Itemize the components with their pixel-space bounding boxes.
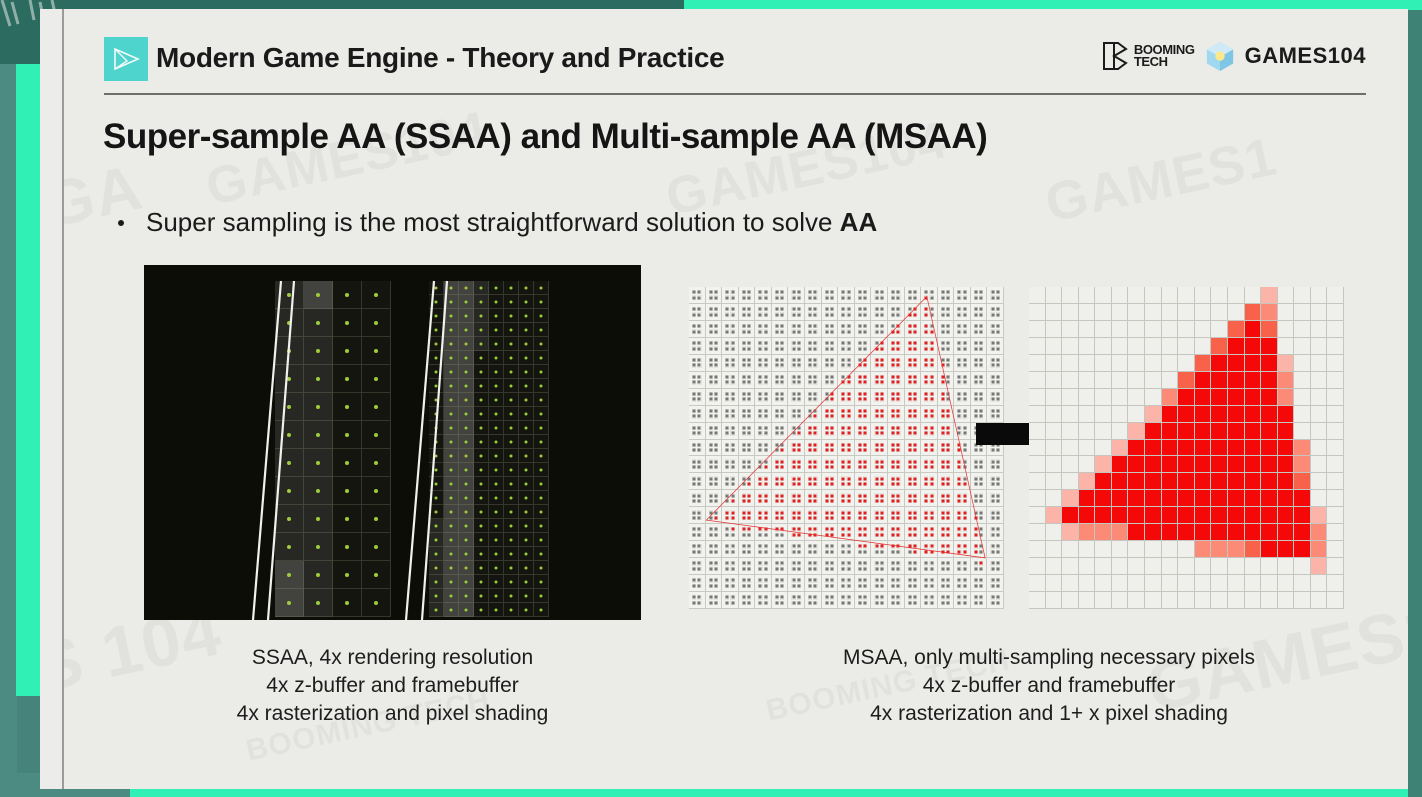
msaa-subsample	[990, 510, 994, 514]
msaa-subsample	[747, 324, 751, 328]
msaa-subsample	[990, 465, 994, 469]
msaa-subsample	[963, 358, 967, 362]
msaa-subsample	[747, 533, 751, 537]
ssaa-sample-dot	[435, 426, 438, 429]
resolved-pixel	[1228, 372, 1245, 389]
msaa-subsample	[974, 346, 978, 350]
ssaa-sample-dot	[465, 314, 468, 317]
ssaa-pixel-cell	[444, 407, 459, 421]
ssaa-sample-dot	[374, 489, 378, 493]
ssaa-sample-dot	[510, 440, 513, 443]
resolved-pixel	[1128, 541, 1145, 558]
msaa-subsample	[896, 329, 900, 333]
msaa-subsample	[874, 380, 878, 384]
ssaa-sample-dot	[465, 440, 468, 443]
ssaa-pixel-cell	[534, 449, 549, 463]
msaa-subsample	[830, 380, 834, 384]
msaa-subsample	[825, 510, 829, 514]
msaa-subsample	[692, 567, 696, 571]
msaa-pixel	[689, 558, 706, 575]
msaa-pixel	[954, 321, 971, 338]
ssaa-pixel-cell	[444, 505, 459, 519]
msaa-subsample	[896, 499, 900, 503]
ssaa-pixel-cell	[534, 281, 549, 295]
msaa-subsample	[697, 414, 701, 418]
msaa-subsample	[846, 499, 850, 503]
resolved-pixel	[1029, 541, 1046, 558]
msaa-pixel	[689, 575, 706, 592]
msaa-pixel	[838, 592, 855, 609]
ssaa-sample-dot	[510, 370, 513, 373]
resolved-pixel	[1079, 541, 1096, 558]
msaa-subsample	[846, 601, 850, 605]
ssaa-sample-dot	[465, 552, 468, 555]
ssaa-pixel-cell	[444, 589, 459, 603]
resolved-pixel	[1327, 575, 1344, 592]
msaa-subsample	[830, 290, 834, 294]
msaa-subsample	[874, 493, 878, 497]
msaa-subsample	[730, 544, 734, 548]
msaa-subsample	[979, 363, 983, 367]
msaa-subsample	[908, 493, 912, 497]
msaa-subsample	[880, 561, 884, 565]
ssaa-pixel-cell	[362, 365, 391, 393]
msaa-pixel	[987, 490, 1004, 507]
ssaa-pixel-cell	[362, 533, 391, 561]
msaa-subsample	[747, 459, 751, 463]
msaa-pixel	[706, 575, 723, 592]
resolved-pixel	[1095, 456, 1112, 473]
msaa-subsample	[692, 448, 696, 452]
ssaa-sample-dot	[525, 328, 528, 331]
msaa-subsample	[924, 341, 928, 345]
msaa-subsample	[697, 397, 701, 401]
resolved-pixel	[1195, 575, 1212, 592]
ssaa-sample-dot	[287, 601, 291, 605]
msaa-subsample	[747, 409, 751, 413]
ssaa-pixel-cell	[459, 309, 474, 323]
msaa-pixel	[805, 524, 822, 541]
msaa-subsample	[929, 431, 933, 435]
msaa-subsample	[846, 392, 850, 396]
msaa-pixel	[772, 389, 789, 406]
msaa-subsample	[830, 341, 834, 345]
msaa-subsample	[858, 567, 862, 571]
msaa-subsample	[941, 459, 945, 463]
ssaa-sample-dot	[540, 426, 543, 429]
msaa-subsample	[990, 329, 994, 333]
ssaa-sample-dot	[495, 594, 498, 597]
msaa-subsample	[941, 578, 945, 582]
msaa-subsample	[880, 324, 884, 328]
msaa-subsample	[780, 533, 784, 537]
msaa-pixel	[722, 372, 739, 389]
msaa-pixel	[938, 524, 955, 541]
ssaa-pixel-cell	[429, 463, 444, 477]
msaa-subsample	[880, 426, 884, 430]
ssaa-sample-dot	[435, 496, 438, 499]
msaa-subsample	[908, 443, 912, 447]
msaa-subsample	[775, 550, 779, 554]
msaa-subsample	[963, 482, 967, 486]
msaa-subsample	[764, 380, 768, 384]
msaa-subsample	[990, 375, 994, 379]
resolved-pixel	[1145, 507, 1162, 524]
msaa-pixel	[954, 558, 971, 575]
resolved-pixel	[1079, 355, 1096, 372]
msaa-pixel	[888, 406, 905, 423]
msaa-subsample	[896, 601, 900, 605]
ssaa-sample-dot	[435, 510, 438, 513]
ssaa-pixel-cell	[474, 407, 489, 421]
msaa-subsample	[979, 375, 983, 379]
msaa-subsample	[742, 290, 746, 294]
msaa-pixel	[938, 389, 955, 406]
msaa-subsample	[725, 516, 729, 520]
msaa-subsample	[780, 375, 784, 379]
msaa-pixel	[739, 541, 756, 558]
msaa-subsample	[858, 550, 862, 554]
msaa-subsample	[742, 443, 746, 447]
ssaa-pixel-cell	[444, 519, 459, 533]
msaa-pixel	[822, 304, 839, 321]
resolved-pixel	[1245, 541, 1262, 558]
msaa-subsample	[858, 397, 862, 401]
msaa-subsample	[758, 493, 762, 497]
ssaa-pixel-cell	[429, 351, 444, 365]
msaa-subsample	[846, 578, 850, 582]
ssaa-sample-dot	[435, 608, 438, 611]
ssaa-pixel-cell	[474, 491, 489, 505]
resolved-pixel	[1079, 592, 1096, 609]
msaa-subsample	[764, 459, 768, 463]
msaa-subsample	[730, 443, 734, 447]
msaa-subsample	[742, 426, 746, 430]
resolved-pixel	[1211, 524, 1228, 541]
msaa-subsample	[825, 295, 829, 299]
ssaa-sample-dot	[316, 321, 320, 325]
resolved-pixel	[1261, 338, 1278, 355]
ssaa-sample-dot	[540, 524, 543, 527]
msaa-subsample	[929, 380, 933, 384]
msaa-pixel	[954, 456, 971, 473]
msaa-pixel	[689, 541, 706, 558]
msaa-subsample	[830, 329, 834, 333]
resolved-pixel	[1311, 355, 1328, 372]
ssaa-sample-dot	[465, 608, 468, 611]
ssaa-pixel-cell	[519, 533, 534, 547]
msaa-pixel	[689, 456, 706, 473]
msaa-subsample	[697, 533, 701, 537]
msaa-subsample	[924, 578, 928, 582]
msaa-subsample	[858, 414, 862, 418]
msaa-subsample	[714, 561, 718, 565]
resolved-pixel	[1278, 372, 1295, 389]
msaa-subsample	[825, 380, 829, 384]
msaa-subsample	[780, 324, 784, 328]
msaa-pixel	[739, 507, 756, 524]
msaa-subsample	[775, 324, 779, 328]
resolved-pixel	[1029, 338, 1046, 355]
msaa-subsample	[813, 409, 817, 413]
msaa-subsample	[747, 544, 751, 548]
msaa-subsample	[775, 516, 779, 520]
msaa-pixel	[838, 304, 855, 321]
msaa-subsample	[924, 448, 928, 452]
ssaa-sample-dot	[450, 384, 453, 387]
msaa-pixel	[954, 406, 971, 423]
msaa-subsample	[791, 499, 795, 503]
msaa-subsample	[908, 409, 912, 413]
msaa-subsample	[808, 443, 812, 447]
resolved-pixel	[1327, 406, 1344, 423]
ssaa-pixel-cell	[429, 491, 444, 505]
resolved-pixel	[1261, 440, 1278, 457]
msaa-subsample	[813, 533, 817, 537]
msaa-subsample	[946, 459, 950, 463]
msaa-pixel	[772, 372, 789, 389]
msaa-pixel	[722, 321, 739, 338]
ssaa-sample-dot	[495, 328, 498, 331]
msaa-subsample	[946, 448, 950, 452]
msaa-subsample	[913, 493, 917, 497]
msaa-pixel	[722, 592, 739, 609]
msaa-subsample	[764, 448, 768, 452]
msaa-subsample	[979, 527, 983, 531]
resolved-pixel	[1062, 490, 1079, 507]
msaa-subsample	[990, 544, 994, 548]
msaa-subsample	[747, 482, 751, 486]
resolved-pixel	[1079, 406, 1096, 423]
ssaa-pixel-cell	[534, 323, 549, 337]
msaa-subsample	[747, 290, 751, 294]
msaa-subsample	[758, 448, 762, 452]
msaa-subsample	[797, 561, 801, 565]
ssaa-sample-dot	[495, 524, 498, 527]
msaa-pixel	[722, 575, 739, 592]
resolved-pixel	[1211, 440, 1228, 457]
msaa-subsample	[780, 499, 784, 503]
resolved-pixel	[1178, 440, 1195, 457]
ssaa-sample-dot	[510, 538, 513, 541]
resolved-pixel	[1046, 558, 1063, 575]
msaa-subsample	[946, 595, 950, 599]
msaa-subsample	[725, 476, 729, 480]
ssaa-sample-dot	[345, 545, 349, 549]
ssaa-pixel-cell	[275, 393, 304, 421]
msaa-subsample	[692, 527, 696, 531]
msaa-pixel	[971, 592, 988, 609]
msaa-subsample	[697, 510, 701, 514]
msaa-subsample	[974, 290, 978, 294]
msaa-subsample	[841, 409, 845, 413]
ssaa-pixel-cell	[459, 519, 474, 533]
msaa-subsample	[697, 567, 701, 571]
msaa-subsample	[747, 584, 751, 588]
msaa-subsample	[924, 380, 928, 384]
msaa-subsample	[979, 499, 983, 503]
resolved-pixel	[1079, 558, 1096, 575]
msaa-subsample	[808, 448, 812, 452]
ssaa-sample-dot	[316, 601, 320, 605]
msaa-subsample	[996, 476, 1000, 480]
msaa-subsample	[764, 346, 768, 350]
msaa-subsample	[758, 358, 762, 362]
msaa-pixel	[921, 490, 938, 507]
msaa-subsample	[974, 312, 978, 316]
msaa-subsample	[709, 426, 713, 430]
ssaa-sample-dot	[450, 608, 453, 611]
msaa-pixel	[971, 541, 988, 558]
ssaa-pixel-cell	[489, 533, 504, 547]
msaa-pixel	[921, 287, 938, 304]
ssaa-sample-dot	[510, 384, 513, 387]
msaa-subsample	[758, 533, 762, 537]
resolved-pixel	[1278, 389, 1295, 406]
msaa-subsample	[941, 510, 945, 514]
resolved-pixel	[1062, 541, 1079, 558]
msaa-subsample	[979, 516, 983, 520]
resolved-pixel	[1327, 389, 1344, 406]
msaa-subsample	[813, 341, 817, 345]
msaa-subsample	[830, 567, 834, 571]
msaa-subsample	[913, 459, 917, 463]
ssaa-pixel-cell	[474, 589, 489, 603]
msaa-pixel	[722, 456, 739, 473]
msaa-subsample	[825, 375, 829, 379]
msaa-subsample	[697, 290, 701, 294]
msaa-pixel	[739, 304, 756, 321]
resolved-pixel	[1278, 304, 1295, 321]
msaa-subsample	[963, 329, 967, 333]
ssaa-sample-dot	[540, 412, 543, 415]
ssaa-sample-dot	[345, 293, 349, 297]
msaa-subsample	[996, 358, 1000, 362]
msaa-subsample	[775, 290, 779, 294]
msaa-subsample	[797, 329, 801, 333]
ssaa-pixel-cell	[504, 477, 519, 491]
msaa-subsample	[858, 465, 862, 469]
ssaa-sample-dot	[540, 300, 543, 303]
msaa-subsample	[863, 426, 867, 430]
msaa-subsample	[791, 409, 795, 413]
msaa-subsample	[797, 448, 801, 452]
resolved-pixel	[1178, 456, 1195, 473]
msaa-subsample	[874, 527, 878, 531]
msaa-subsample	[830, 459, 834, 463]
msaa-subsample	[697, 443, 701, 447]
resolved-pixel	[1311, 321, 1328, 338]
msaa-subsample	[941, 465, 945, 469]
resolved-pixel	[1112, 541, 1129, 558]
ssaa-sample-dot	[450, 482, 453, 485]
resolved-pixel	[1311, 423, 1328, 440]
msaa-subsample	[941, 443, 945, 447]
ssaa-pixel-cell	[429, 393, 444, 407]
ssaa-sample-dot	[480, 286, 483, 289]
msaa-subsample	[714, 443, 718, 447]
msaa-subsample	[758, 567, 762, 571]
msaa-subsample	[946, 476, 950, 480]
msaa-subsample	[692, 459, 696, 463]
msaa-subsample	[830, 527, 834, 531]
msaa-subsample	[891, 358, 895, 362]
msaa-pixel	[722, 473, 739, 490]
msaa-subsample	[858, 499, 862, 503]
msaa-subsample	[714, 346, 718, 350]
msaa-pixel	[788, 592, 805, 609]
resolved-pixel	[1311, 304, 1328, 321]
ssaa-pixel-cell	[459, 561, 474, 575]
msaa-pixel	[855, 440, 872, 457]
msaa-caption: MSAA, only multi-sampling necessary pixe…	[754, 644, 1344, 728]
msaa-subsample	[813, 601, 817, 605]
msaa-subsample	[946, 295, 950, 299]
msaa-subsample	[913, 409, 917, 413]
ssaa-pixel-cell	[504, 351, 519, 365]
msaa-pixel	[855, 524, 872, 541]
msaa-subsample	[913, 414, 917, 418]
msaa-subsample	[780, 414, 784, 418]
ssaa-pixel-cell	[444, 463, 459, 477]
msaa-subsample	[692, 510, 696, 514]
msaa-pixel	[706, 541, 723, 558]
msaa-subsample	[929, 595, 933, 599]
msaa-subsample	[957, 392, 961, 396]
msaa-subsample	[791, 527, 795, 531]
msaa-subsample	[692, 561, 696, 565]
ssaa-pixel-cell	[504, 421, 519, 435]
msaa-pixel	[921, 473, 938, 490]
msaa-pixel	[805, 338, 822, 355]
msaa-subsample	[874, 465, 878, 469]
msaa-subsample	[775, 329, 779, 333]
msaa-subsample	[791, 363, 795, 367]
resolved-pixel	[1195, 558, 1212, 575]
msaa-subsample	[908, 567, 912, 571]
ssaa-pixel-cell	[444, 533, 459, 547]
msaa-subsample	[709, 346, 713, 350]
msaa-subsample	[725, 561, 729, 565]
msaa-subsample	[874, 584, 878, 588]
msaa-subsample	[813, 476, 817, 480]
resolved-pixel	[1178, 338, 1195, 355]
resolved-pixel	[1228, 490, 1245, 507]
resolved-pixel	[1211, 423, 1228, 440]
resolved-pixel	[1112, 592, 1129, 609]
msaa-pixel	[689, 423, 706, 440]
msaa-subsample	[957, 595, 961, 599]
msaa-subsample	[730, 465, 734, 469]
msaa-pixel	[871, 541, 888, 558]
msaa-pixel	[689, 524, 706, 541]
msaa-subsample	[963, 346, 967, 350]
msaa-subsample	[946, 533, 950, 537]
msaa-subsample	[775, 312, 779, 316]
msaa-subsample	[957, 584, 961, 588]
msaa-subsample	[880, 516, 884, 520]
msaa-subsample	[863, 397, 867, 401]
ssaa-sample-dot	[540, 608, 543, 611]
msaa-subsample	[808, 595, 812, 599]
msaa-subsample	[963, 363, 967, 367]
msaa-subsample	[974, 561, 978, 565]
resolved-pixel	[1112, 406, 1129, 423]
msaa-subsample	[891, 595, 895, 599]
ssaa-sample-dot	[465, 370, 468, 373]
msaa-subsample	[908, 363, 912, 367]
msaa-subsample	[764, 363, 768, 367]
